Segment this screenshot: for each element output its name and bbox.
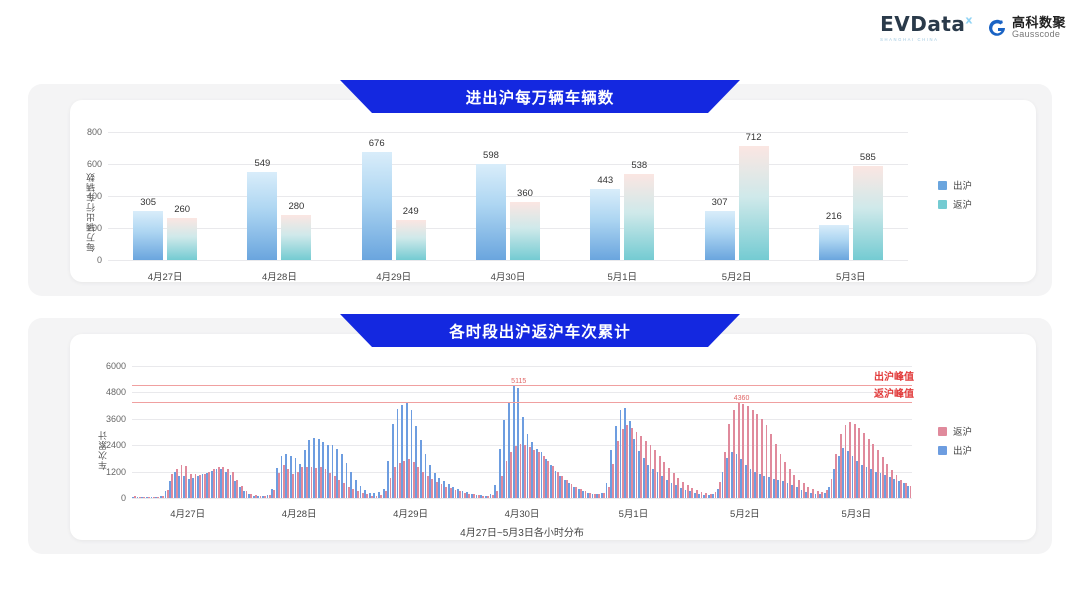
chart1-bar: 443 — [590, 189, 620, 260]
chart1-bar: 216 — [819, 225, 849, 260]
chart1-bar-value: 598 — [483, 150, 499, 161]
chart2-y-tick: 1200 — [106, 467, 126, 477]
chart1-legend: 出沪返沪 — [938, 178, 972, 211]
chart1-bar: 360 — [510, 202, 540, 260]
chart1-bar-group: 443538 — [565, 132, 679, 260]
chart2-y-tick: 6000 — [106, 361, 126, 371]
chart1-bar-group: 216585 — [794, 132, 908, 260]
evdata-text: EVData — [880, 12, 965, 36]
chart1-x-tick: 4月29日 — [376, 269, 411, 283]
chart1-bar-group: 549280 — [222, 132, 336, 260]
chart2-x-tick: 4月29日 — [393, 506, 428, 520]
chart1-bar: 305 — [133, 211, 163, 260]
chart2-legend-label: 出沪 — [953, 443, 972, 457]
chart1-bar-group: 305260 — [108, 132, 222, 260]
chart1-bar-value: 538 — [631, 160, 647, 171]
chart1-bars: 02004006008003052604月27日5492804月28日67624… — [108, 132, 908, 260]
gausscode-text: 高科数聚 Gausscode — [1012, 16, 1066, 39]
gausscode-mark-icon — [987, 18, 1007, 38]
chart1-legend-swatch — [938, 181, 947, 190]
chart1-bar: 249 — [396, 220, 426, 260]
chart1-bar-group: 676249 — [337, 132, 451, 260]
chart1-bar: 260 — [167, 218, 197, 260]
chart1-x-tick: 5月1日 — [607, 269, 637, 283]
chart1-bar-value: 260 — [174, 204, 190, 215]
chart2-legend-swatch — [938, 427, 947, 436]
chart1-y-tick: 0 — [97, 255, 102, 265]
chart2-bars: 0120024003600480060004月27日4月28日4月29日4月30… — [132, 366, 912, 498]
chart1-bar-group: 307712 — [679, 132, 793, 260]
chart1-y-tick: 600 — [87, 159, 102, 169]
chart1-bar-value: 549 — [254, 158, 270, 169]
chart1-legend-item[interactable]: 返沪 — [938, 197, 972, 211]
chart2-peak-label: 返沪峰值 — [874, 385, 914, 400]
chart1-legend-swatch — [938, 200, 947, 209]
chart2-bar-back — [910, 486, 912, 498]
chart1-title: 进出沪每万辆车辆数 — [466, 86, 615, 108]
chart1-bar-value: 443 — [597, 175, 613, 186]
chart2-legend-swatch — [938, 446, 947, 455]
chart1-bar: 585 — [853, 166, 883, 260]
evdata-logo: EVDatax SHANGHAI CHINA — [880, 14, 973, 42]
chart1-plot-area: 02004006008003052604月27日5492804月28日67624… — [108, 132, 908, 260]
chart1-legend-label: 出沪 — [953, 178, 972, 192]
chart2-x-tick: 4月27日 — [170, 506, 205, 520]
chart2-peak-line — [132, 402, 912, 403]
chart1-gridline — [108, 260, 908, 261]
chart2-y-tick: 4800 — [106, 387, 126, 397]
chart2-y-tick: 3600 — [106, 414, 126, 424]
chart1-x-tick: 4月27日 — [148, 269, 183, 283]
chart2-plot-area: 0120024003600480060004月27日4月28日4月29日4月30… — [132, 366, 912, 498]
chart1-bar-value: 307 — [712, 197, 728, 208]
chart2-peak-value: 5115 — [511, 378, 526, 385]
chart1-bar-value: 216 — [826, 211, 842, 222]
chart1-x-tick: 4月30日 — [491, 269, 526, 283]
chart2-legend-item[interactable]: 返沪 — [938, 424, 972, 438]
chart1-y-tick: 800 — [87, 127, 102, 137]
chart1-bar-group: 598360 — [451, 132, 565, 260]
chart2-x-tick: 5月2日 — [730, 506, 760, 520]
chart1-bar: 280 — [281, 215, 311, 260]
chart1-y-tick: 400 — [87, 191, 102, 201]
evdata-tagline: SHANGHAI CHINA — [880, 37, 938, 42]
chart1-x-tick: 4月28日 — [262, 269, 297, 283]
chart1-x-tick: 5月3日 — [836, 269, 866, 283]
chart1-bar-value: 360 — [517, 188, 533, 199]
chart2-peak-label: 出沪峰值 — [874, 368, 914, 383]
chart2-legend-label: 返沪 — [953, 424, 972, 438]
brand-bar: EVDatax SHANGHAI CHINA 高科数聚 Gausscode — [880, 14, 1066, 42]
chart1-x-tick: 5月2日 — [722, 269, 752, 283]
chart2-legend: 返沪出沪 — [938, 424, 972, 457]
chart1-bar-value: 712 — [746, 132, 762, 143]
gausscode-en-name: Gausscode — [1012, 30, 1066, 39]
chart2-peak-line — [132, 385, 912, 386]
chart1-title-ribbon: 进出沪每万辆车辆数 — [340, 80, 740, 113]
evdata-x-icon: x — [965, 13, 973, 26]
chart1-legend-label: 返沪 — [953, 197, 972, 211]
chart2-title-ribbon: 各时段出沪返沪车次累计 — [340, 314, 740, 347]
chart1-bar: 538 — [624, 174, 654, 260]
chart1-legend-item[interactable]: 出沪 — [938, 178, 972, 192]
chart2-legend-item[interactable]: 出沪 — [938, 443, 972, 457]
chart1-y-tick: 200 — [87, 223, 102, 233]
chart1-bar-value: 280 — [288, 201, 304, 212]
chart2-peak-value: 4360 — [734, 395, 750, 402]
chart1-bar: 712 — [739, 146, 769, 260]
chart1-bar: 549 — [247, 172, 277, 260]
chart2-x-axis-caption: 4月27日~5月3日各小时分布 — [132, 524, 912, 539]
chart1-bar-value: 249 — [403, 206, 419, 217]
chart1-bar-value: 676 — [369, 138, 385, 149]
chart2-y-tick: 0 — [121, 493, 126, 503]
chart2-y-axis-label: 车次累计 — [96, 400, 109, 470]
chart2-x-tick: 5月1日 — [619, 506, 649, 520]
chart1-bar: 676 — [362, 152, 392, 260]
chart2-x-tick: 4月30日 — [505, 506, 540, 520]
chart1-bar: 598 — [476, 164, 506, 260]
chart1-bar: 307 — [705, 211, 735, 260]
chart2-x-tick: 4月28日 — [282, 506, 317, 520]
gausscode-logo: 高科数聚 Gausscode — [987, 16, 1066, 39]
gausscode-cn-name: 高科数聚 — [1012, 16, 1066, 30]
chart2-y-tick: 2400 — [106, 440, 126, 450]
chart1-bar-value: 585 — [860, 152, 876, 163]
chart2-title: 各时段出沪返沪车次累计 — [449, 320, 631, 342]
chart2-gridline — [132, 498, 912, 499]
evdata-wordmark: EVDatax — [880, 14, 973, 34]
chart1-bar-value: 305 — [140, 197, 156, 208]
chart2-x-tick: 5月3日 — [841, 506, 871, 520]
